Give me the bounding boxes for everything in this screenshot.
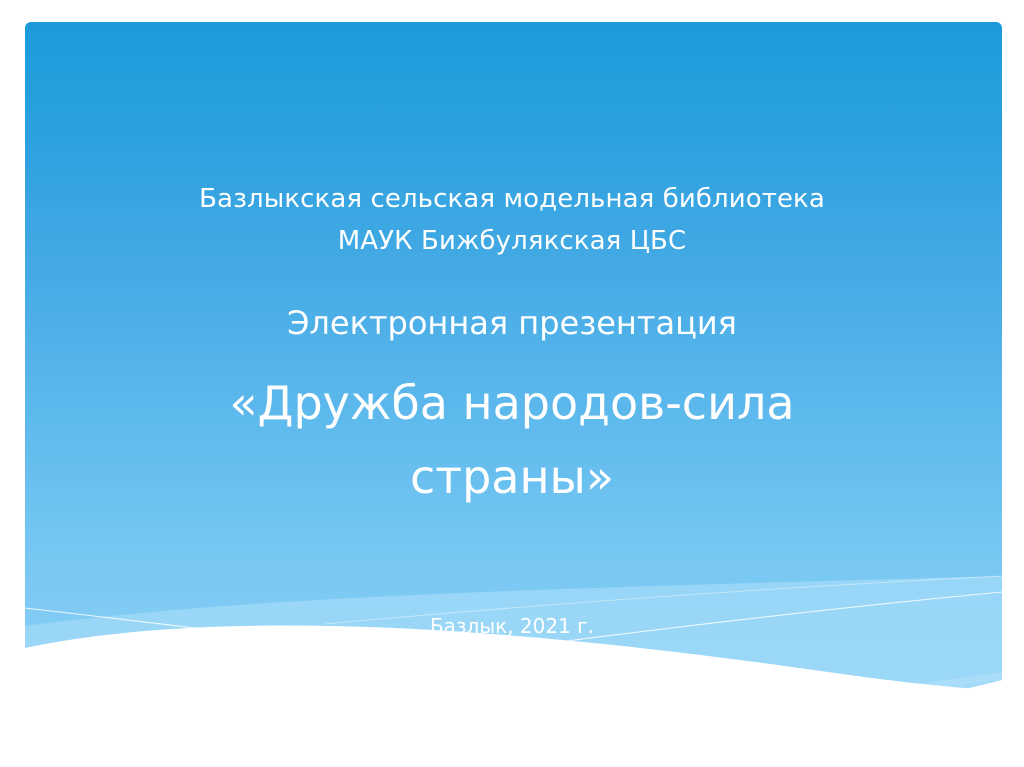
slide-root: Базлыкская сельская модельная библиотека…	[0, 0, 1024, 767]
slide-background-panel	[25, 22, 1002, 760]
decorative-wave-graphic	[25, 530, 1002, 760]
